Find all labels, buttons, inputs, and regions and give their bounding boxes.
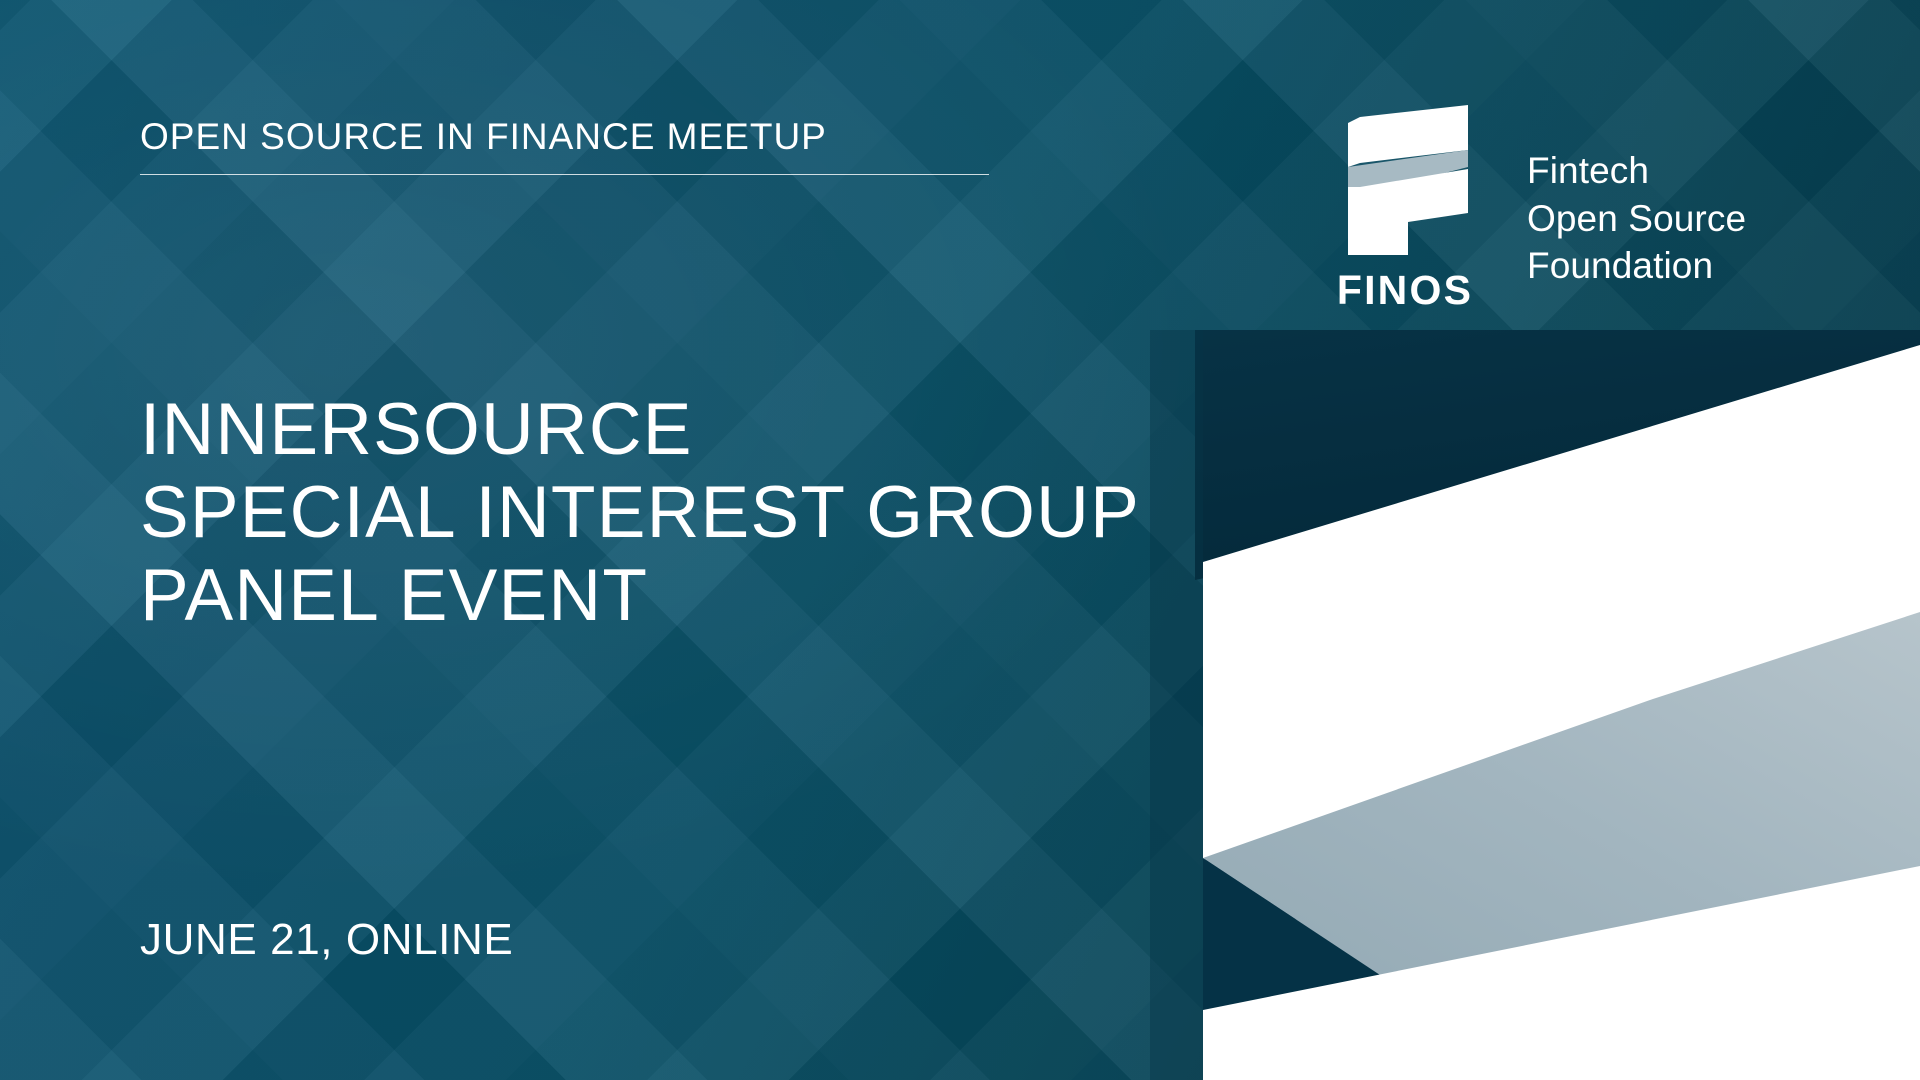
event-banner-slide: OPEN SOURCE IN FINANCE MEETUP FINOS Fint… — [0, 0, 1920, 1080]
dark-band-lower — [1203, 713, 1920, 1080]
finos-tagline: Fintech Open Source Foundation — [1527, 147, 1746, 290]
finos-logo[interactable]: FINOS Fintech Open Source Foundation — [1330, 95, 1746, 311]
title-line-2: SPECIAL INTEREST GROUP — [140, 471, 1140, 554]
white-ribbon-upper — [1203, 347, 1920, 873]
finos-f-mark-icon — [1330, 95, 1480, 265]
title-line-1: INNERSOURCE — [140, 388, 1140, 471]
kicker-text: OPEN SOURCE IN FINANCE MEETUP — [140, 118, 990, 155]
dark-triangle-left — [1203, 858, 1430, 1008]
event-dateline: JUNE 21, ONLINE — [140, 915, 513, 965]
tagline-line-2: Open Source — [1527, 195, 1746, 243]
ribbon-shadow-a — [1203, 560, 1375, 700]
kicker-divider — [140, 174, 989, 175]
finos-wordmark: FINOS — [1337, 270, 1473, 311]
title-line-3: PANEL EVENT — [140, 554, 1140, 637]
tagline-line-3: Foundation — [1527, 242, 1746, 290]
white-ribbon-lower — [1203, 845, 1920, 1080]
white-band-1 — [1203, 345, 1920, 860]
dark-gap-1 — [1203, 700, 1920, 940]
slate-band — [1203, 612, 1920, 1008]
page-title: INNERSOURCE SPECIAL INTEREST GROUP PANEL… — [140, 388, 1140, 638]
dark-wedge-upper — [1195, 330, 1920, 580]
white-band-2 — [1203, 866, 1920, 1080]
tagline-line-1: Fintech — [1527, 147, 1746, 195]
navy-column — [1150, 330, 1203, 1080]
slate-ribbon-middle — [1203, 628, 1920, 1020]
finos-mark-block: FINOS — [1330, 95, 1480, 311]
kicker-block: OPEN SOURCE IN FINANCE MEETUP — [140, 118, 990, 175]
